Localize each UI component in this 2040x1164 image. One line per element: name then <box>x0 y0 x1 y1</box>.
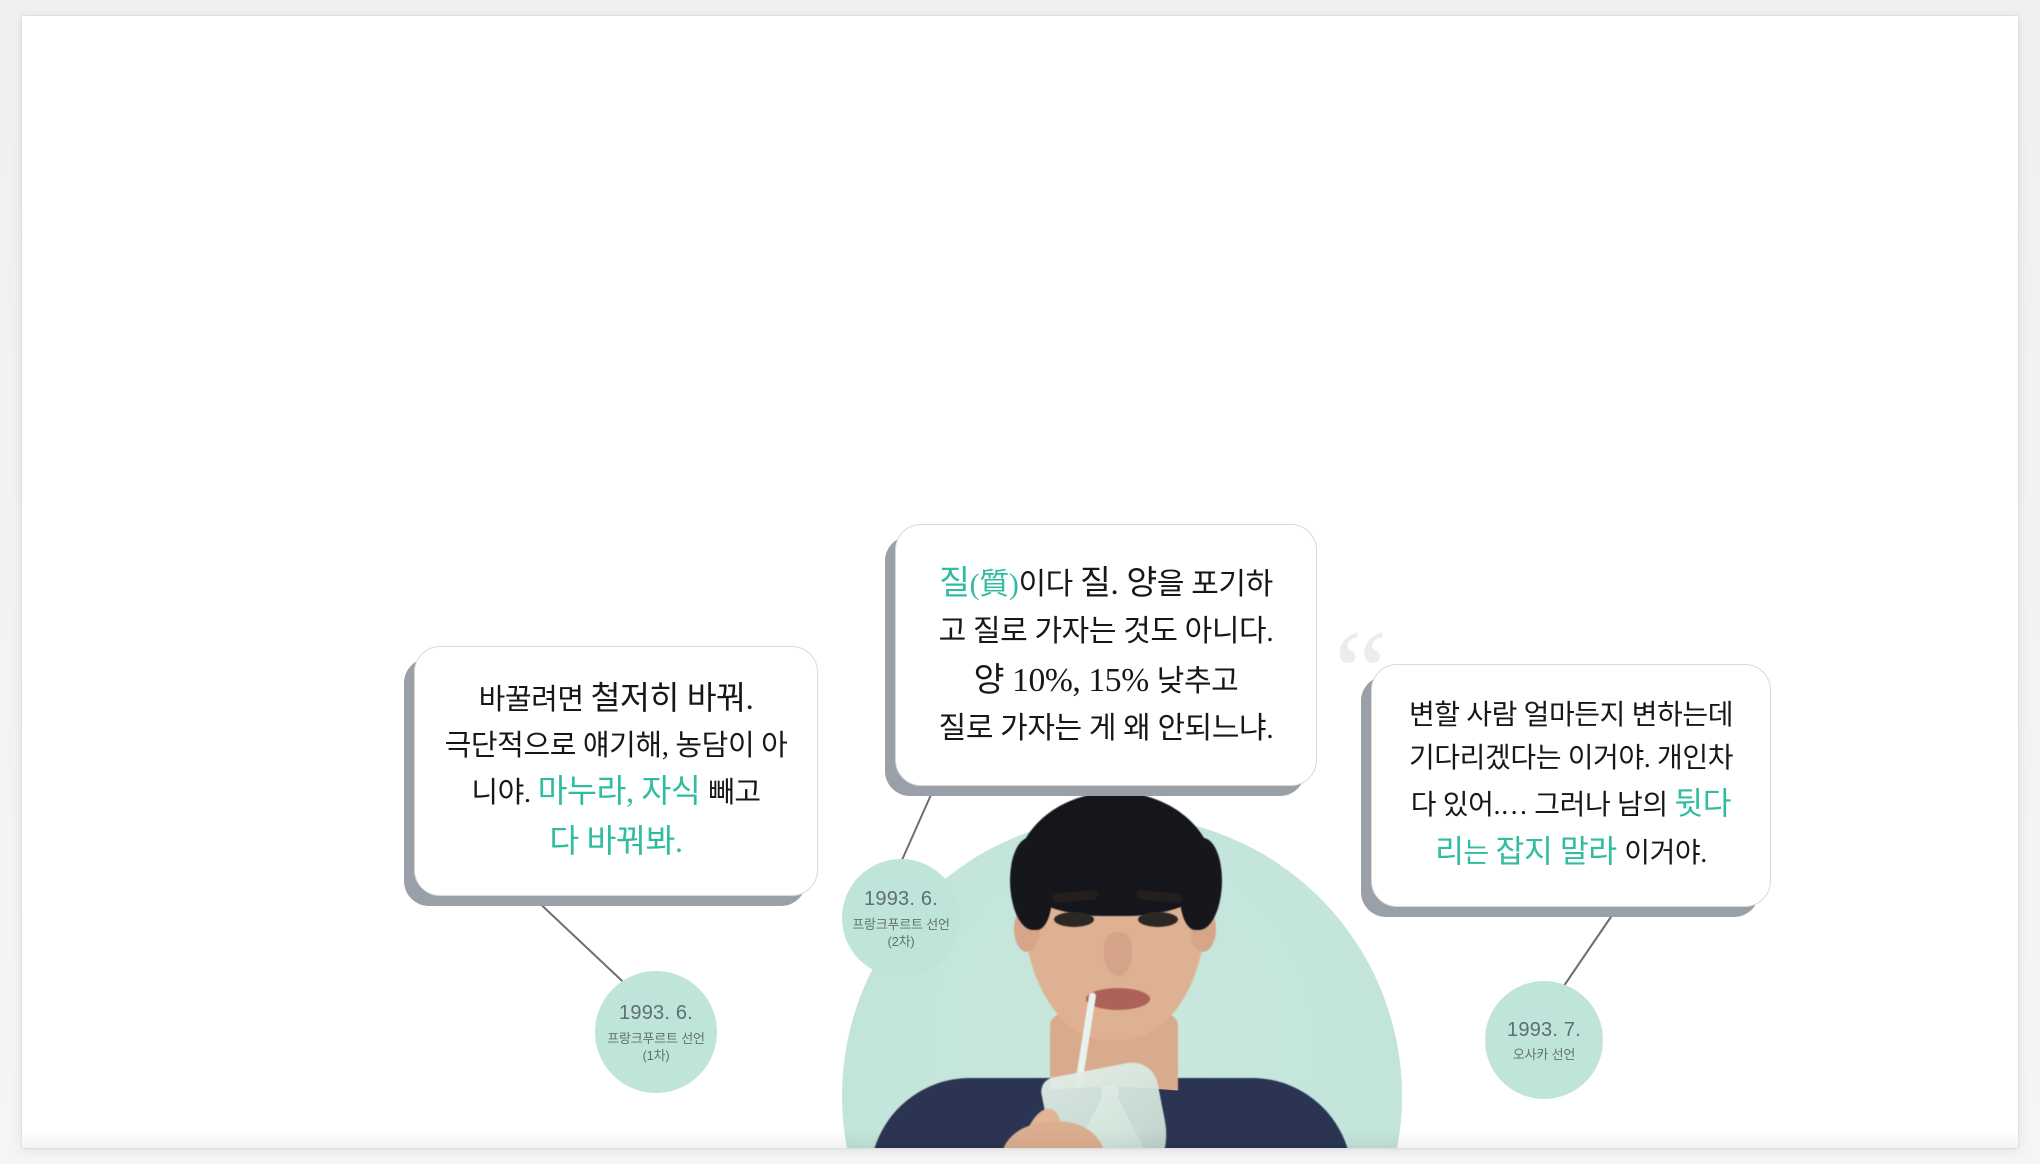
quote-run: 낮추고 <box>1157 665 1239 698</box>
speaker-eye-left <box>1054 912 1094 927</box>
quote-run: (質) <box>970 568 1019 601</box>
quote-line: 다 바꿔봐. <box>445 818 788 867</box>
speaker-mouth <box>1086 988 1150 1010</box>
speaker-hair-side-right <box>1180 838 1222 930</box>
quote-run: 고 질로 가자는 것도 아니다. <box>939 615 1274 648</box>
quote-run: 니야. <box>471 777 537 809</box>
quote-line: 질로 가자는 게 왜 안되느냐. <box>939 706 1274 752</box>
quote-line: 양 10%, 15% 낮추고 <box>939 655 1274 706</box>
quote-run: 잡지 말라 <box>1496 834 1625 869</box>
quote-run: 다 바꿔봐. <box>549 824 682 860</box>
quote-run: 철저히 바꿔. <box>591 681 754 717</box>
quote-run: 빼고 <box>708 777 761 809</box>
screenshot-root: “ <box>0 0 2040 1164</box>
quote-run: 변할 사람 얼마든지 변하는데 <box>1409 700 1733 731</box>
quote-line: 다 있어.… 그러나 남의 뒷다 <box>1409 780 1733 828</box>
date-marker-1-subtitle2: (1차) <box>642 1047 669 1064</box>
quote-run: 양 10%, 15% <box>974 662 1157 699</box>
quote-run: 질 <box>939 565 970 602</box>
quote-run: 극단적으로 얘기해, 농담이 아 <box>445 730 788 762</box>
date-marker-2-subtitle2: (2차) <box>887 933 914 950</box>
quote-bubble-center-text: 질(質)이다 질. 양을 포기하고 질로 가자는 것도 아니다.양 10%, 1… <box>917 558 1296 751</box>
quote-line: 기다리겠다는 이거야. 개인차 <box>1409 738 1733 781</box>
speaker-hair-side-left <box>1010 838 1052 930</box>
quote-line: 리는 잡지 말라 이거야. <box>1409 828 1733 876</box>
slide-frame: “ <box>22 16 2018 1148</box>
quote-bubble-center[interactable]: 질(質)이다 질. 양을 포기하고 질로 가자는 것도 아니다.양 10%, 1… <box>895 524 1317 786</box>
date-marker-3-subtitle: 오사카 선언 <box>1513 1046 1575 1063</box>
quote-run: 다 있어.… 그러나 남의 <box>1411 790 1674 821</box>
quote-run: 뒷다 <box>1674 786 1731 821</box>
slide-canvas: “ <box>22 16 2018 1148</box>
speaker-eye-right <box>1138 912 1178 927</box>
connector-left <box>534 898 636 994</box>
quote-line: 극단적으로 얘기해, 농담이 아 <box>445 724 788 768</box>
quote-line: 변할 사람 얼마든지 변하는데 <box>1409 695 1733 738</box>
quote-run: 바꿀려면 <box>479 684 591 716</box>
date-marker-2[interactable]: 1993. 6. 프랑크푸르트 선언 (2차) <box>842 859 960 977</box>
quote-run: 을 포기하 <box>1157 568 1273 601</box>
quote-run: 질로 가자는 게 왜 안되느냐. <box>939 712 1274 745</box>
quote-run: 리 <box>1435 834 1463 869</box>
quote-run: 이거야. <box>1624 838 1707 869</box>
date-marker-1-subtitle: 프랑크푸르트 선언 <box>607 1030 705 1047</box>
date-marker-2-year: 1993. 6. <box>864 886 938 912</box>
quote-run: 질. 양 <box>1080 565 1157 602</box>
quote-run: 기다리겠다는 이거야. 개인차 <box>1409 743 1733 774</box>
quote-line: 바꿀려면 철저히 바꿔. <box>445 675 788 724</box>
connector-right <box>1557 908 1617 996</box>
quote-line: 고 질로 가자는 것도 아니다. <box>939 609 1274 655</box>
quote-run: 는 <box>1464 838 1496 869</box>
quote-run: 마누라, 자식 <box>538 774 709 810</box>
quote-line: 질(質)이다 질. 양을 포기하 <box>939 558 1274 609</box>
quote-run: 이다 <box>1018 568 1080 601</box>
date-marker-3[interactable]: 1993. 7. 오사카 선언 <box>1485 981 1603 1099</box>
date-marker-1-year: 1993. 6. <box>619 1000 693 1026</box>
quote-line: 니야. 마누라, 자식 빼고 <box>445 768 788 817</box>
speaker-nose <box>1104 932 1132 976</box>
quote-bubble-left-text: 바꿀려면 철저히 바꿔.극단적으로 얘기해, 농담이 아니야. 마누라, 자식 … <box>423 675 810 867</box>
quote-bubble-right-text: 변할 사람 얼마든지 변하는데기다리겠다는 이거야. 개인차다 있어.… 그러나… <box>1387 695 1755 875</box>
date-marker-3-year: 1993. 7. <box>1507 1017 1581 1043</box>
quote-bubble-left[interactable]: 바꿀려면 철저히 바꿔.극단적으로 얘기해, 농담이 아니야. 마누라, 자식 … <box>414 646 818 896</box>
date-marker-2-subtitle: 프랑크푸르트 선언 <box>852 916 950 933</box>
quote-bubble-right[interactable]: 변할 사람 얼마든지 변하는데기다리겠다는 이거야. 개인차다 있어.… 그러나… <box>1371 664 1771 907</box>
date-marker-1[interactable]: 1993. 6. 프랑크푸르트 선언 (1차) <box>595 971 717 1093</box>
